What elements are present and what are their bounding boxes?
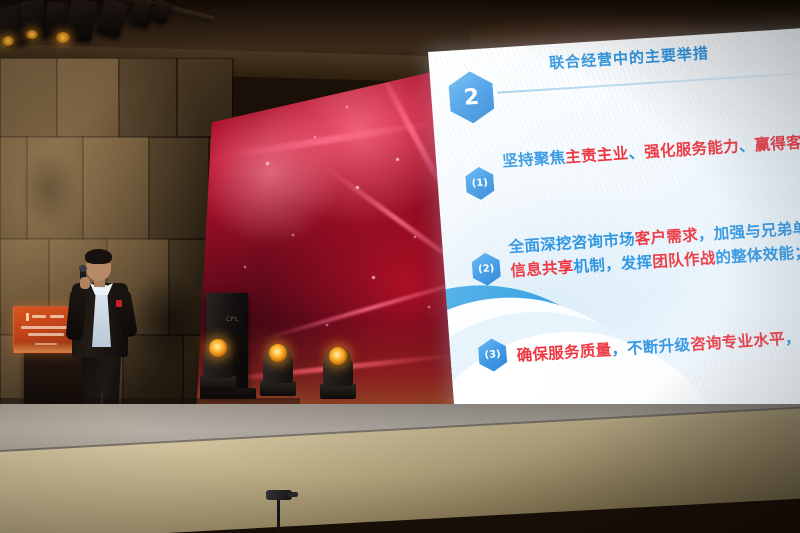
text-run: 的整体效能；: [715, 243, 800, 267]
podium-sign-text: [32, 315, 46, 318]
highlight-run: 主责主业: [565, 144, 629, 166]
highlight-run: 强化服务能力: [644, 137, 740, 161]
text-run: 、: [738, 136, 755, 155]
microphone-head-icon: [79, 265, 87, 272]
led-sparkle: [396, 158, 399, 161]
moving-head-base: [320, 384, 356, 399]
speaker-cabinet-brand: CPL: [226, 316, 239, 323]
presenter-lapel-badge: [116, 300, 122, 307]
led-sparkle: [292, 234, 294, 236]
text-run: 、: [628, 143, 645, 162]
wall-panel: [0, 58, 58, 138]
text-run: ，不断升级: [611, 336, 691, 359]
text-run: 坚持聚焦: [502, 148, 566, 170]
conference-stage-photo: CPL 2 联合经营中的主要举措 (1) (2) (3) 坚持聚焦主责主业、强化…: [0, 0, 800, 533]
podium-sign-text: [21, 326, 70, 329]
highlight-run: 团队作战: [652, 249, 716, 271]
truss-light-lens-icon: [26, 30, 38, 39]
led-sparkle: [314, 136, 316, 138]
led-sparkle: [244, 266, 246, 268]
cast-shadow: [128, 272, 204, 368]
mic-stand-arm: [288, 492, 298, 497]
moving-head-base: [200, 376, 236, 391]
led-sparkle: [428, 306, 430, 308]
highlight-run: 确保: [516, 345, 549, 365]
presentation-slide: 2 联合经营中的主要举措 (1) (2) (3) 坚持聚焦主责主业、强化服务能力…: [428, 27, 800, 443]
highlight-run: 客户需求: [634, 226, 698, 248]
moving-head-light: [198, 335, 238, 391]
podium-sign-logo-icon: [26, 313, 29, 321]
wall-panel: [56, 58, 120, 138]
moving-head-light: [318, 343, 358, 399]
led-streak: [227, 120, 436, 160]
led-sparkle: [346, 106, 348, 108]
text-run: ，加强与兄弟单: [697, 219, 800, 244]
highlight-run: 赢得客: [754, 133, 800, 154]
wall-panel: [118, 58, 178, 138]
led-sparkle: [266, 162, 269, 165]
moving-head-lens-icon: [209, 339, 227, 357]
led-sparkle: [356, 186, 359, 189]
led-sparkle: [414, 236, 416, 238]
text-run: 机制，发挥: [573, 253, 653, 276]
podium-sign-accent: [14, 342, 77, 352]
podium-sign-text: [50, 315, 64, 318]
text-run: ，: [784, 329, 800, 348]
truss-light-lens-icon: [56, 32, 70, 43]
moving-head-lens-icon: [269, 344, 287, 362]
moving-head-base: [260, 381, 296, 396]
moving-head-lens-icon: [329, 347, 347, 365]
highlight-run: 信息共享: [510, 258, 574, 280]
moving-head-light: [258, 340, 298, 396]
truss-light-lens-icon: [2, 36, 14, 46]
glasses-icon: [87, 262, 110, 268]
led-sparkle: [372, 276, 375, 279]
cast-shadow: [18, 150, 78, 230]
highlight-run: 咨询专业水平: [690, 330, 786, 354]
wall-panel: [148, 136, 210, 240]
wall-panel: [82, 136, 150, 240]
highlight-run: 服务质量: [548, 341, 612, 363]
podium-sign-text: [28, 333, 64, 336]
presenter-hand: [80, 277, 90, 289]
mic-stand-pole: [277, 498, 280, 533]
